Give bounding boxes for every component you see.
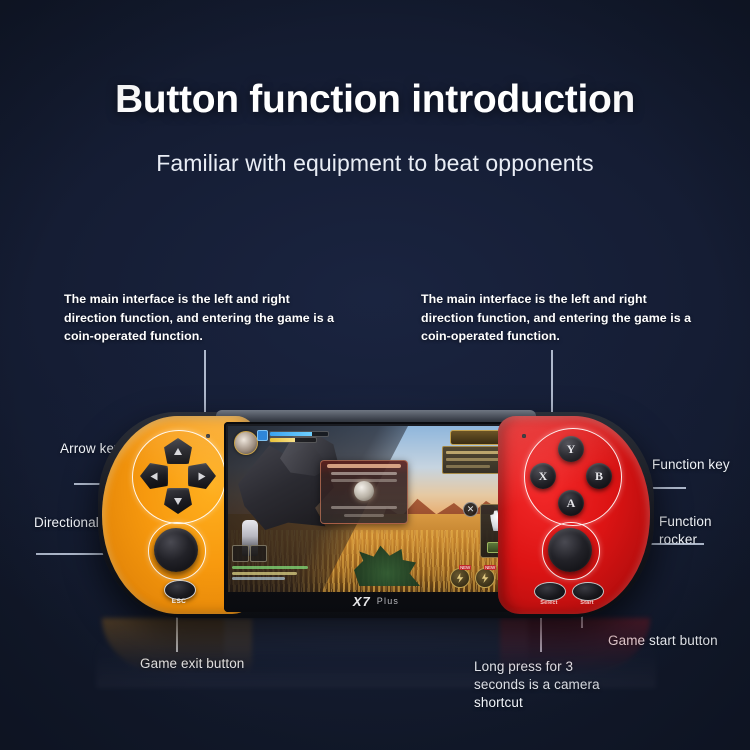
game-screen: ✕ NEW NEW NEW (228, 426, 524, 592)
button-a[interactable]: A (558, 490, 584, 516)
modal-orb-icon (354, 481, 374, 501)
led-indicator-right (522, 434, 526, 438)
hud-energy-bar (269, 437, 317, 443)
page-title: Button function introduction (0, 78, 750, 122)
dpad-right-button[interactable] (188, 463, 216, 489)
brand-suffix: Plus (377, 596, 399, 606)
arrow-right-icon (199, 472, 206, 480)
select-button[interactable] (534, 582, 566, 601)
page-subtitle: Familiar with equipment to beat opponent… (0, 150, 750, 177)
button-y[interactable]: Y (558, 436, 584, 462)
left-analog-stick[interactable] (154, 528, 198, 572)
connector-line-top-right (551, 350, 553, 416)
face-buttons-group: Y X B A (528, 436, 614, 516)
hud-avatar (234, 431, 258, 455)
device-branding: X7 Plus (228, 592, 524, 610)
screen-bezel: ✕ NEW NEW NEW X7 (224, 422, 528, 612)
handheld-game-console: ESC (96, 410, 656, 620)
left-stick-highlight-ring (148, 522, 206, 580)
game-dialog-modal (320, 460, 408, 524)
start-button[interactable] (572, 582, 604, 601)
callout-top-right: The main interface is the left and right… (421, 290, 696, 346)
select-button-label: Select (532, 600, 566, 606)
hud-level-badge (257, 430, 268, 441)
face-buttons-highlight-ring (524, 428, 622, 526)
arrow-down-icon (174, 498, 182, 505)
skill-icon-2[interactable]: NEW (475, 568, 495, 588)
arrow-left-icon (151, 472, 158, 480)
infographic-canvas: Button function introduction Familiar wi… (0, 0, 750, 750)
dpad-group (140, 438, 216, 514)
brand-name: X7 (353, 594, 371, 609)
start-button-label: Start (570, 600, 604, 606)
esc-button-label: ESC (164, 598, 194, 605)
esc-button[interactable] (164, 580, 196, 600)
label-game-exit-button: Game exit button (140, 655, 250, 673)
inventory-slot-2[interactable] (250, 545, 267, 562)
label-long-press-camera: Long press for 3 seconds is a camera sho… (474, 658, 604, 713)
led-indicator-left (206, 434, 210, 438)
label-function-key: Function key (652, 456, 750, 474)
right-grip-panel: Y X B A Select Start (498, 416, 650, 614)
dpad-left-button[interactable] (140, 463, 168, 489)
label-game-start-button: Game start button (608, 632, 718, 650)
dpad-down-button[interactable] (164, 488, 192, 514)
hud-chat-log (232, 566, 308, 588)
button-b[interactable]: B (586, 463, 612, 489)
close-icon[interactable]: ✕ (463, 502, 478, 517)
right-analog-stick[interactable] (548, 528, 592, 572)
callout-top-left: The main interface is the left and right… (64, 290, 339, 346)
arrow-up-icon (174, 448, 182, 455)
skill-icon-1[interactable]: NEW (450, 568, 470, 588)
inventory-slot-1[interactable] (232, 545, 249, 562)
dpad-up-button[interactable] (164, 438, 192, 464)
dpad-highlight-ring (132, 430, 226, 524)
button-x[interactable]: X (530, 463, 556, 489)
right-stick-highlight-ring (542, 522, 600, 580)
connector-line-top-left (204, 350, 206, 416)
